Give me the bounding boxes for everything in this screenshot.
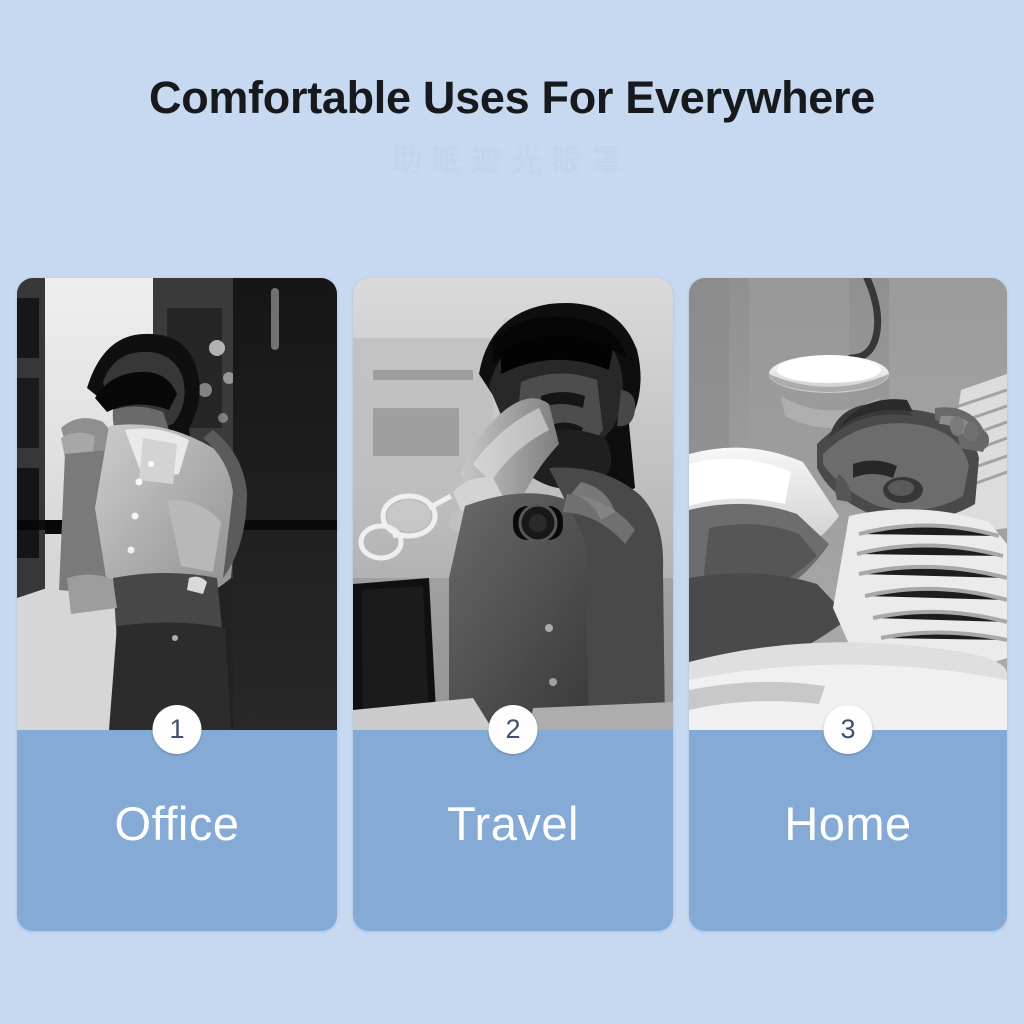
step-badge-2: 2	[489, 705, 538, 754]
step-badge-3: 3	[824, 705, 873, 754]
use-case-card-home[interactable]: 3 Home	[689, 278, 1007, 931]
watermark-text: 助眠遮光眼罩	[0, 136, 1024, 180]
card-label-home: Home	[689, 796, 1007, 851]
use-case-card-travel[interactable]: 2 Travel	[353, 278, 673, 931]
use-case-card-office[interactable]: 1 Office	[17, 278, 337, 931]
home-photo	[689, 278, 1007, 730]
office-photo	[17, 278, 337, 730]
step-badge-1: 1	[153, 705, 202, 754]
page-title: Comfortable Uses For Everywhere	[0, 72, 1024, 124]
card-label-office: Office	[17, 796, 337, 851]
travel-photo	[353, 278, 673, 730]
card-label-travel: Travel	[353, 796, 673, 851]
use-case-card-row: 1 Office	[17, 278, 1007, 931]
